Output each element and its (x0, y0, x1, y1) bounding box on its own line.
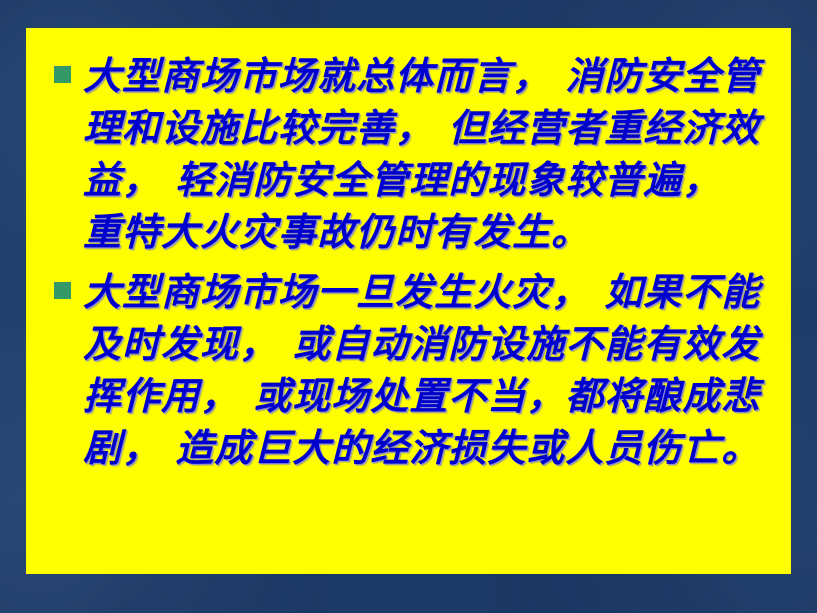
bullet-item: 大型商场市场一旦发生火灾， 如果不能及时发现， 或自动消防设施不能有效发挥作用，… (44, 266, 773, 474)
square-bullet-icon (54, 282, 71, 299)
square-bullet-icon (54, 66, 71, 83)
presentation-slide: 大型商场市场就总体而言， 消防安全管理和设施比较完善， 但经营者重经济效益， 轻… (0, 0, 817, 613)
bullet-text: 大型商场市场一旦发生火灾， 如果不能及时发现， 或自动消防设施不能有效发挥作用，… (83, 266, 773, 474)
bullet-text: 大型商场市场就总体而言， 消防安全管理和设施比较完善， 但经营者重经济效益， 轻… (83, 50, 773, 258)
bullet-item: 大型商场市场就总体而言， 消防安全管理和设施比较完善， 但经营者重经济效益， 轻… (44, 50, 773, 258)
content-card: 大型商场市场就总体而言， 消防安全管理和设施比较完善， 但经营者重经济效益， 轻… (26, 28, 791, 574)
